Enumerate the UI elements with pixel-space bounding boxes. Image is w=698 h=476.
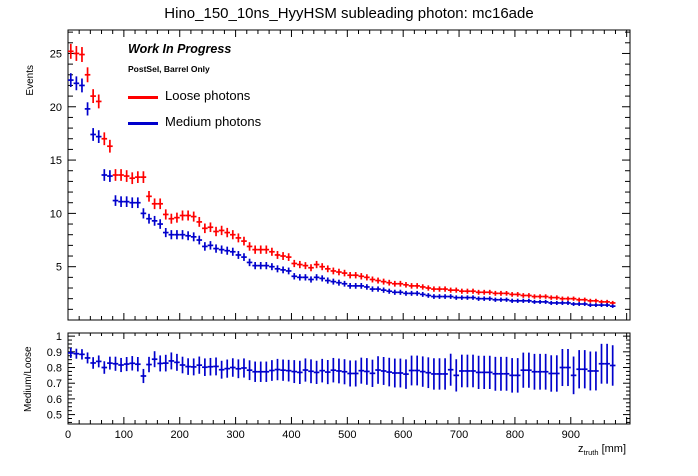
xtick-label: 700 [450, 429, 468, 441]
series-ratio-medium-over-loose [68, 344, 615, 394]
ratio-ytick-label: 0.7 [47, 378, 62, 390]
main-ytick-label: 25 [50, 48, 62, 60]
ratio-ytick-label: 0.8 [47, 363, 62, 375]
ratio-ytick-label: 1 [56, 331, 62, 343]
xtick-label: 0 [65, 429, 71, 441]
series-loose-photons [68, 44, 615, 305]
main-ytick-label: 10 [50, 208, 62, 220]
main-ytick-label: 5 [56, 262, 62, 274]
plot-canvas: 510152025Events0.50.60.70.80.91Medium/Lo… [0, 0, 698, 476]
annotation-work-in-progress: Work In Progress [128, 42, 231, 56]
legend-label-medium-photons[interactable]: Medium photons [165, 114, 261, 129]
main-ytick-label: 15 [50, 155, 62, 167]
ratio-ytick-label: 0.5 [47, 410, 62, 422]
legend-swatch-0 [128, 96, 158, 99]
root-figure: Hino_150_10ns_HyyHSM subleading photon: … [0, 0, 698, 476]
legend-label-loose-photons[interactable]: Loose photons [165, 88, 250, 103]
xaxis-title: ztruth [mm] [578, 443, 626, 457]
ratio-ytick-label: 0.9 [47, 347, 62, 359]
ratio-yaxis-title: Medium/Loose [23, 346, 34, 412]
legend-swatch-1 [128, 122, 158, 125]
ratio-ytick-label: 0.6 [47, 394, 62, 406]
xtick-label: 300 [226, 429, 244, 441]
xtick-label: 500 [338, 429, 356, 441]
main-ytick-label: 20 [50, 102, 62, 114]
main-yaxis-title: Events [25, 65, 36, 96]
xtick-label: 600 [394, 429, 412, 441]
xtick-label: 200 [171, 429, 189, 441]
xtick-label: 900 [562, 429, 580, 441]
annotation-selection: PostSel, Barrel Only [128, 64, 210, 74]
xtick-label: 800 [506, 429, 524, 441]
xtick-label: 100 [115, 429, 133, 441]
xtick-label: 400 [282, 429, 300, 441]
